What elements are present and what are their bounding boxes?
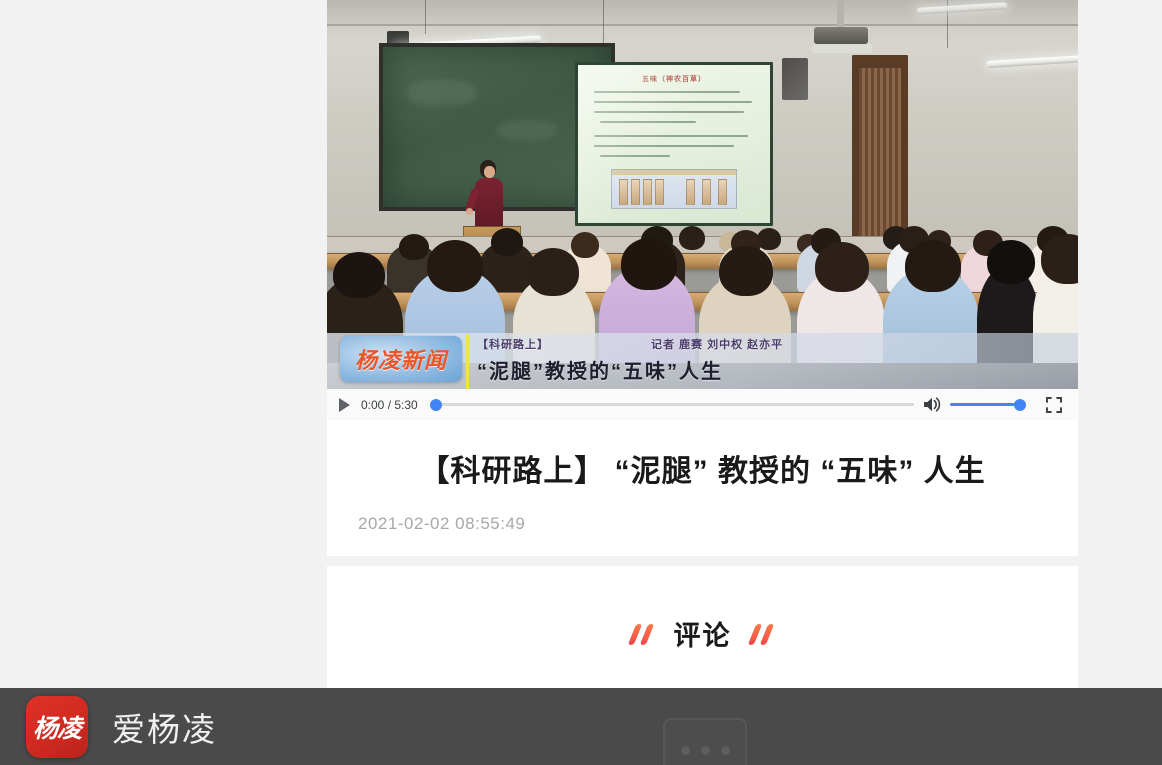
projector-pole <box>837 0 844 30</box>
slide-title: 五味（神农百草） <box>578 74 770 84</box>
volume-slider[interactable] <box>950 389 1026 420</box>
student-head <box>427 240 483 292</box>
slide-text-line <box>600 155 670 157</box>
publish-timestamp: 2021-02-02 08:55:49 <box>327 492 1078 534</box>
seek-slider[interactable] <box>430 389 914 420</box>
play-icon <box>339 398 350 412</box>
channel-logo-text: 杨凌新闻 <box>355 343 447 375</box>
caption-headline: “泥腿”教授的“五味”人生 <box>477 355 723 384</box>
bottom-app-bar[interactable]: 杨凌 爱杨凌 <box>0 688 1162 765</box>
chalkboard-smudge <box>407 80 477 106</box>
slide-text-line <box>594 145 734 147</box>
app-name-label: 爱杨凌 <box>112 703 217 751</box>
page-title: 【科研路上】 “泥腿” 教授的 “五味” 人生 <box>327 420 1078 492</box>
card-gap <box>327 556 1078 566</box>
slide-figure-header <box>612 170 736 175</box>
teacher-face <box>484 166 495 178</box>
student-head <box>571 232 599 258</box>
slide-text-line <box>594 101 752 103</box>
caption-kicker: 【科研路上】 <box>477 336 549 352</box>
app-logo-icon[interactable]: 杨凌 <box>26 696 88 758</box>
slide-figure-cell <box>686 179 695 205</box>
door-glass <box>859 68 901 248</box>
projection-screen: 五味（神农百草） <box>578 65 770 223</box>
projector <box>814 27 868 44</box>
video-frame[interactable]: 五味（神农百草） <box>327 0 1078 389</box>
fullscreen-icon <box>1046 397 1062 413</box>
caption-divider <box>466 334 469 389</box>
slide-text-line <box>600 121 696 123</box>
student-head <box>719 246 773 296</box>
slide-figure <box>611 169 737 209</box>
player-controls[interactable]: 0:00 / 5:30 <box>327 389 1078 420</box>
volume-thumb[interactable] <box>1014 399 1026 411</box>
fullscreen-button[interactable] <box>1036 389 1072 420</box>
projector-mount <box>812 44 872 53</box>
comments-title: 评论 <box>674 614 732 653</box>
student-head <box>815 242 869 292</box>
quote-slash-left-icon <box>628 624 658 644</box>
play-button[interactable] <box>327 389 361 420</box>
dot-icon <box>721 746 730 755</box>
slide-figure-cell <box>643 179 652 205</box>
quote-slash-right-icon <box>748 624 778 644</box>
caption-credit: 记者 鹿赛 刘中权 赵亦平 <box>651 336 783 352</box>
slide-text-line <box>594 91 740 93</box>
teacher-hand <box>466 208 473 215</box>
slide-figure-cell <box>702 179 711 205</box>
comments-header: 评论 <box>628 614 778 653</box>
time-display: 0:00 / 5:30 <box>361 398 418 412</box>
slide-text-line <box>594 111 744 113</box>
projection-screen-frame: 五味（神农百草） <box>575 62 773 226</box>
content-column: 五味（神农百草） <box>327 0 1078 711</box>
dot-icon <box>681 746 690 755</box>
student-head <box>399 234 429 260</box>
slide-text-line <box>594 135 748 137</box>
video-player[interactable]: 五味（神农百草） <box>327 0 1078 389</box>
page-root: 五味（神农百草） <box>0 0 1162 765</box>
student-head <box>987 240 1035 284</box>
teacher-body <box>475 178 503 230</box>
slide-figure-cell <box>718 179 727 205</box>
student-head <box>679 226 705 250</box>
seek-thumb[interactable] <box>430 399 442 411</box>
app-logo-text: 杨凌 <box>33 709 81 745</box>
lamp-wire <box>425 0 426 34</box>
volume-icon <box>923 396 942 413</box>
ceiling-trim <box>327 24 1078 26</box>
student-head <box>621 238 677 290</box>
slide-figure-cell <box>619 179 628 205</box>
more-options-button[interactable] <box>663 718 747 765</box>
article-card: 【科研路上】 “泥腿” 教授的 “五味” 人生 2021-02-02 08:55… <box>327 420 1078 556</box>
slide-figure-cell <box>655 179 664 205</box>
volume-button[interactable] <box>914 389 950 420</box>
dot-icon <box>701 746 710 755</box>
student-head <box>491 228 523 256</box>
student-head <box>333 252 385 298</box>
chalkboard-smudge <box>497 120 557 140</box>
wall-speaker <box>782 58 808 100</box>
channel-logo: 杨凌新闻 <box>340 336 462 382</box>
slide-figure-cell <box>631 179 640 205</box>
seek-track <box>430 403 914 406</box>
student-head <box>527 248 579 296</box>
student-head <box>905 240 961 292</box>
